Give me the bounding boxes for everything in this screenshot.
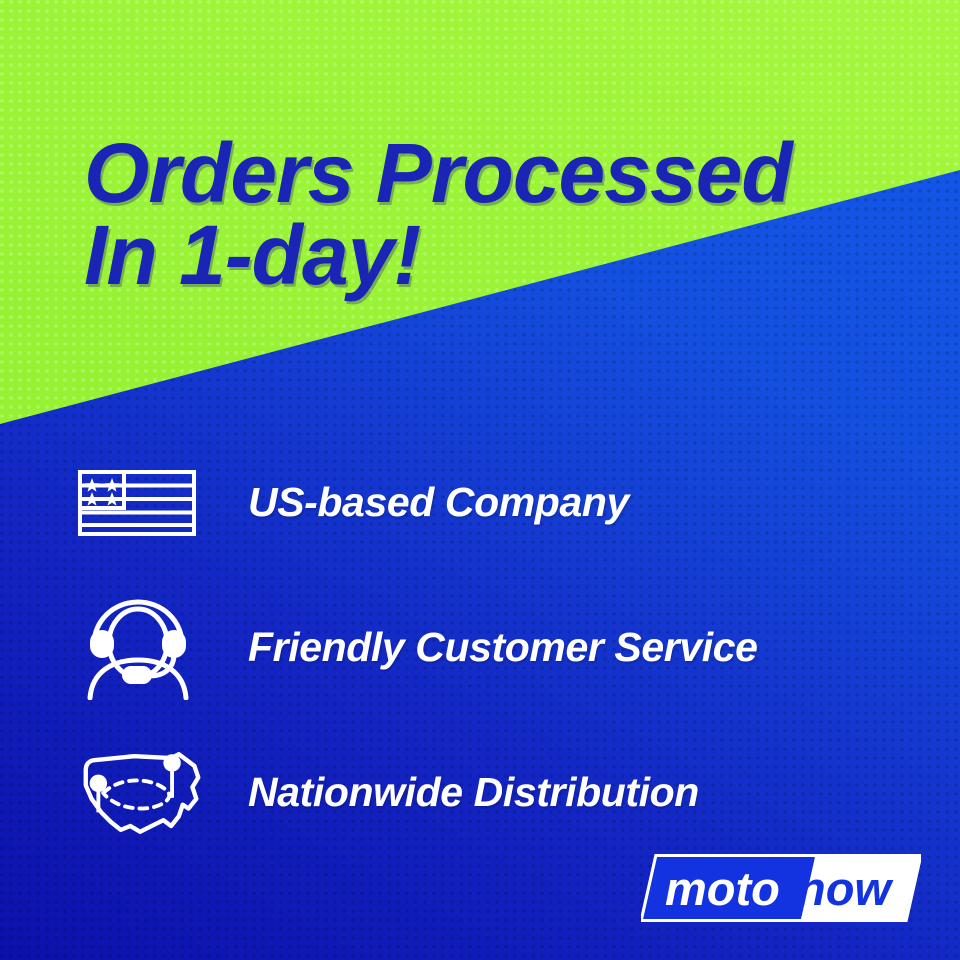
promo-canvas: Orders Processed In 1-day! [0, 0, 960, 960]
us-flag-icon [78, 470, 206, 536]
list-item: Nationwide Distribution [0, 720, 960, 865]
motonow-logo[interactable]: moto now [641, 853, 921, 923]
benefits-list: US-based Company [0, 430, 960, 865]
us-map-route-icon [78, 747, 206, 839]
list-item-label: Nationwide Distribution [248, 769, 699, 816]
headset-support-icon [78, 596, 206, 700]
list-item-label: US-based Company [248, 479, 629, 526]
headline-line-1: Orders Processed [84, 126, 792, 220]
list-item: Friendly Customer Service [0, 575, 960, 720]
logo-text-moto: moto [665, 862, 780, 915]
list-item-label: Friendly Customer Service [248, 624, 758, 671]
logo-text-now: now [797, 862, 894, 915]
page-title: Orders Processed In 1-day! [84, 52, 924, 378]
headline-line-2: In 1-day! [84, 215, 924, 296]
list-item: US-based Company [0, 430, 960, 575]
